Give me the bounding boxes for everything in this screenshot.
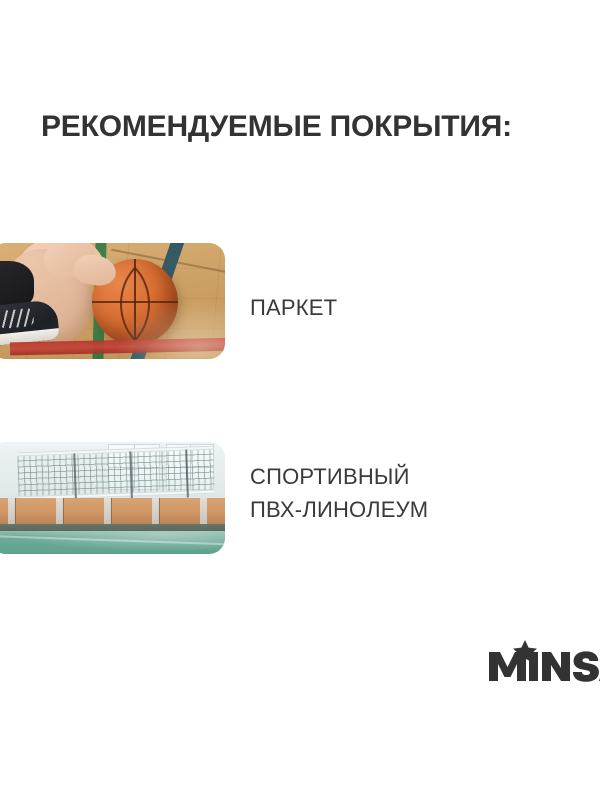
letter-s [573, 651, 599, 681]
panel-bracket [200, 498, 207, 524]
page-root: РЕКОМЕНДУЕМЫЕ ПОКРЫТИЯ: [0, 0, 600, 800]
panel-bracket [152, 498, 159, 524]
letter-m [489, 652, 526, 681]
gym-wall-base [0, 524, 225, 531]
floor-highlight [0, 531, 225, 554]
minsa-logo-mark [487, 640, 600, 682]
gym-photo [0, 442, 225, 554]
player-sneaker [0, 299, 60, 347]
parquet-thumbnail [0, 243, 225, 359]
pvc-linoleum-thumbnail [0, 442, 225, 554]
net-post [73, 453, 77, 501]
page-title: РЕКОМЕНДУЕМЫЕ ПОКРЫТИЯ: [41, 110, 512, 144]
covering-label-pvc-linoleum-line-2: ПВХ-ЛИНОЛЕУМ [250, 493, 428, 526]
panel-bracket [56, 498, 63, 524]
covering-label-parquet-line-1: ПАРКЕТ [250, 291, 337, 324]
covering-label-pvc-linoleum: СПОРТИВНЫЙ ПВХ-ЛИНОЛЕУМ [250, 460, 428, 526]
volleyball-net [17, 449, 214, 498]
panel-bracket [104, 498, 111, 524]
floor-highlight [115, 299, 225, 359]
letter-n [542, 652, 570, 681]
parquet-photo [0, 243, 225, 359]
net-post [129, 451, 133, 499]
covering-label-pvc-linoleum-line-1: СПОРТИВНЫЙ [250, 460, 428, 493]
covering-label-parquet: ПАРКЕТ [250, 291, 337, 324]
net-post [185, 450, 189, 498]
minsa-logo [487, 640, 600, 682]
gym-wall-bars [0, 498, 225, 524]
letter-i [529, 652, 538, 681]
sneaker-laces [0, 308, 34, 329]
panel-bracket [8, 498, 15, 524]
pvc-floor [0, 531, 225, 554]
